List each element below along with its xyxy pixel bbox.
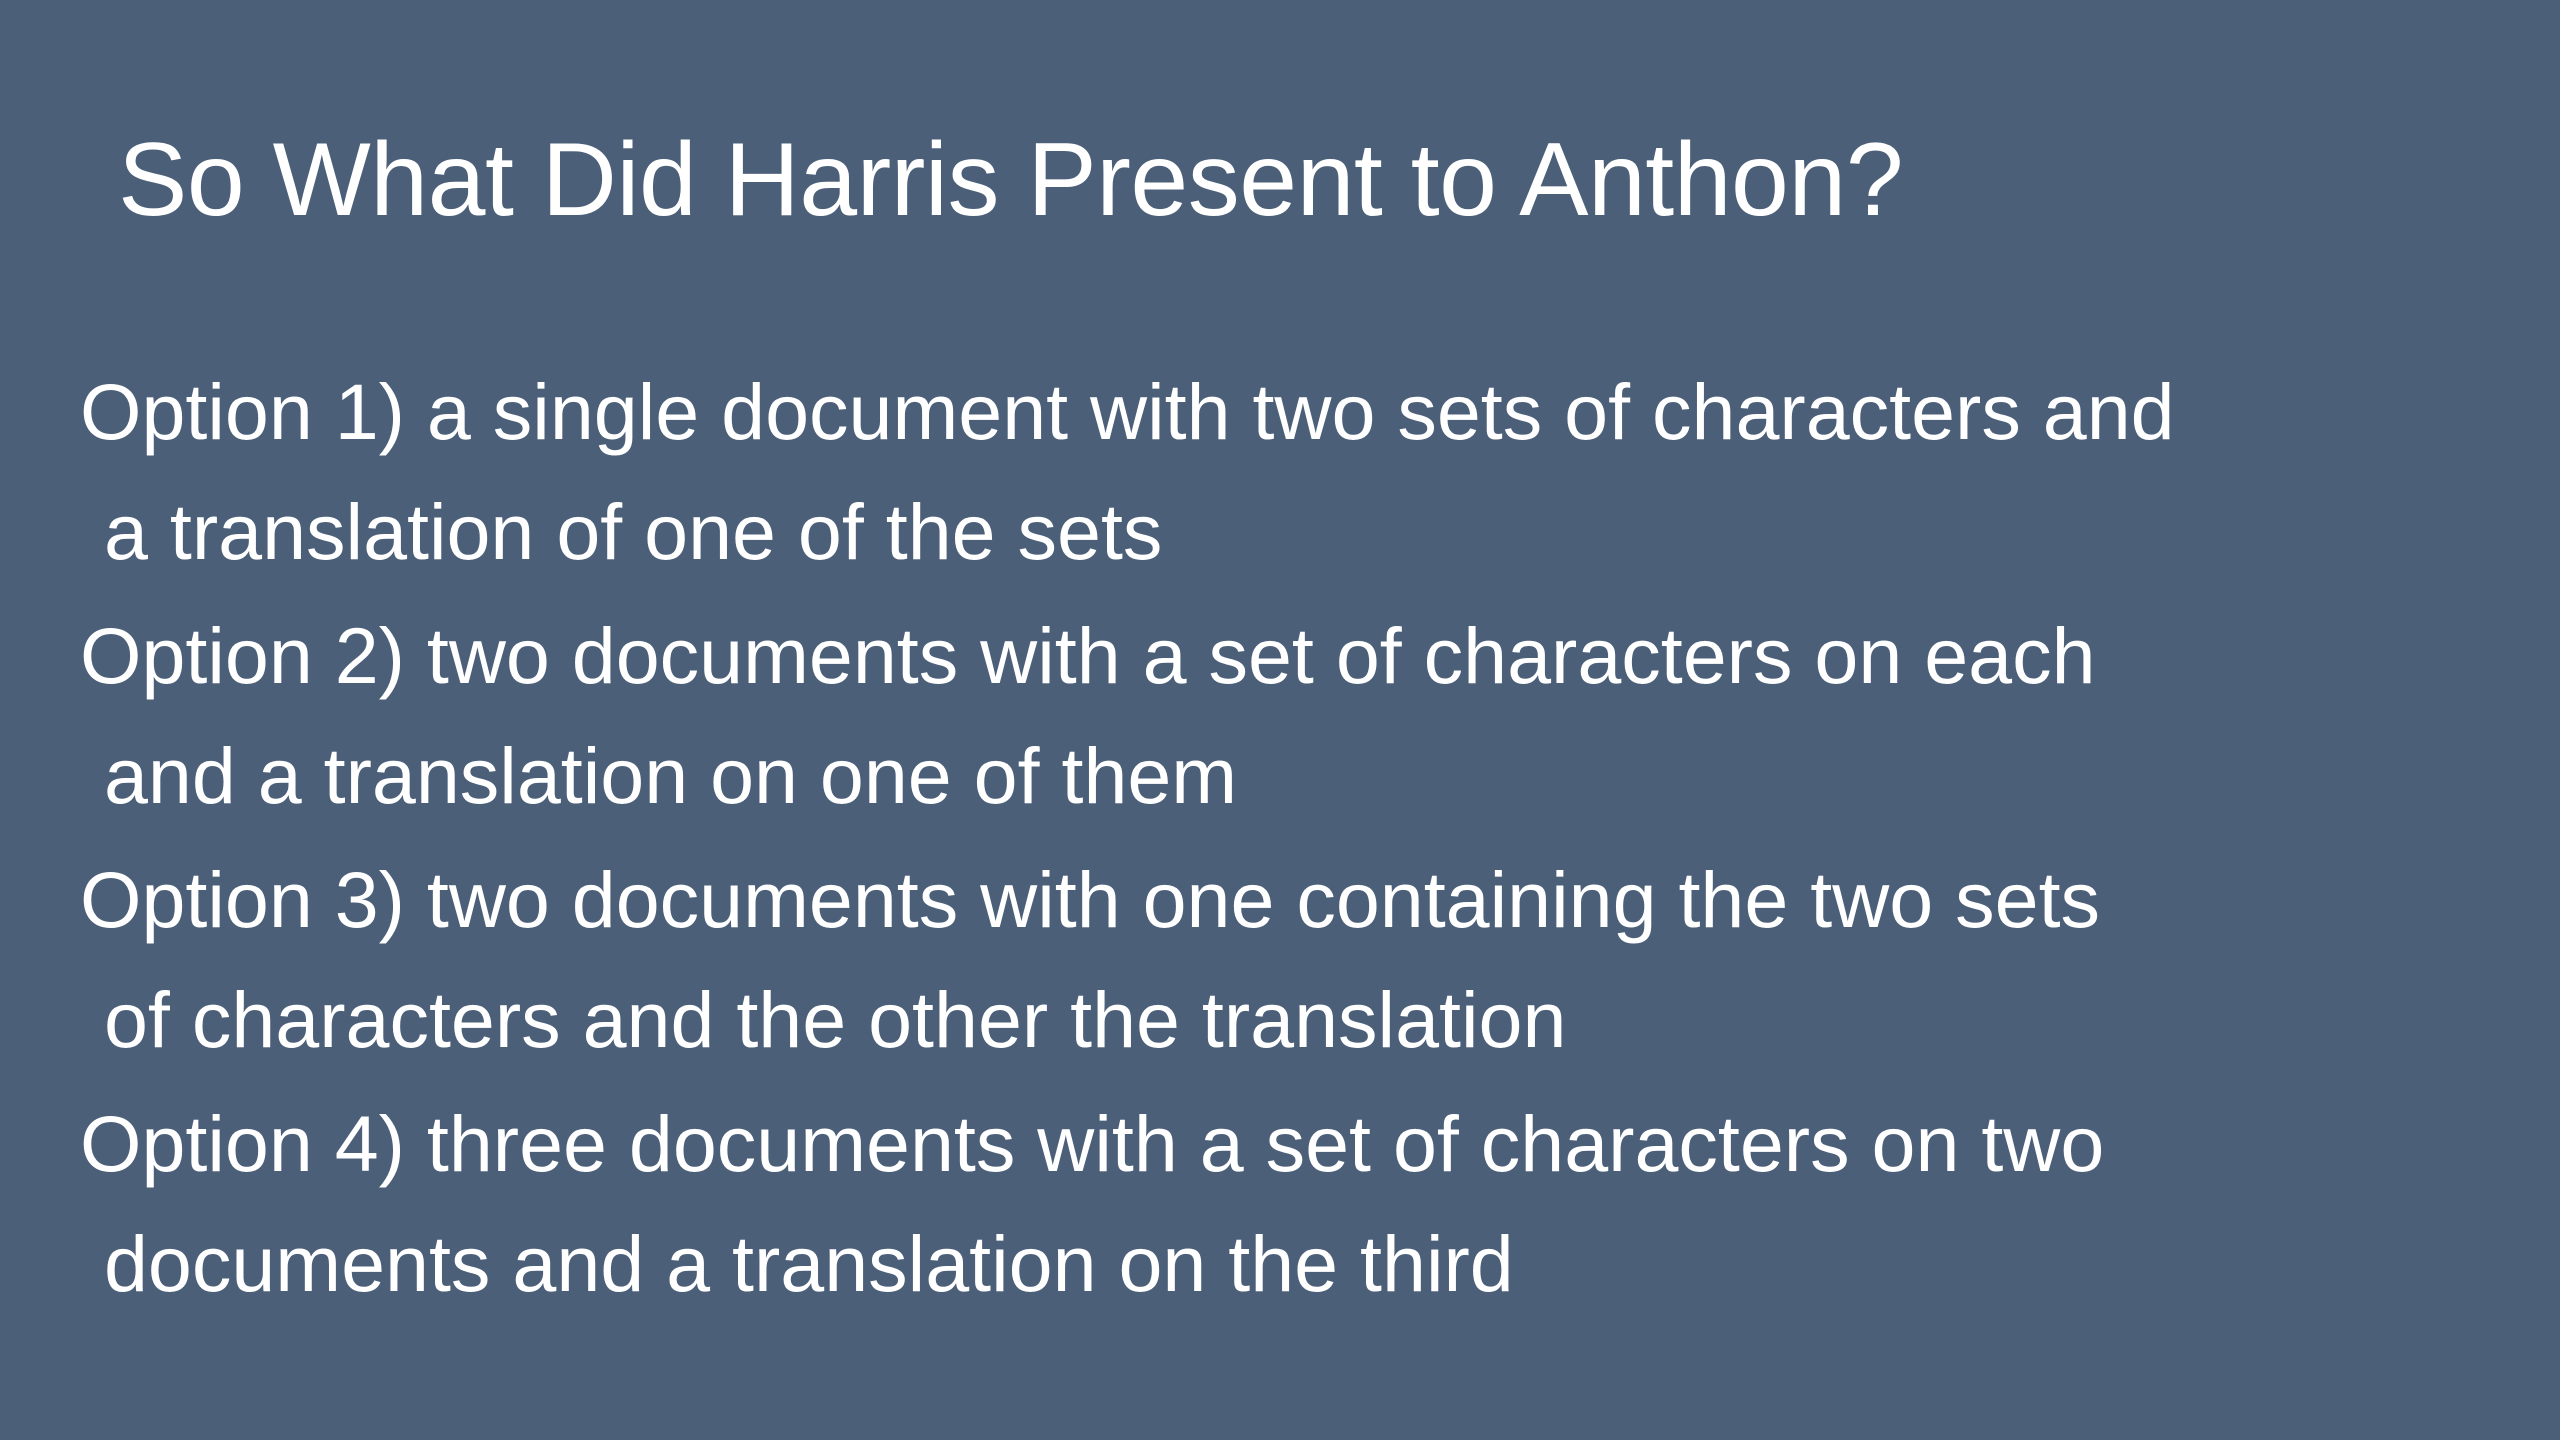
- option-item-3: Option 3) two documents with one contain…: [80, 840, 2500, 1080]
- option-3-line-2: of characters and the other the translat…: [80, 960, 2500, 1080]
- option-1-line-2: a translation of one of the sets: [80, 472, 2500, 592]
- presentation-slide: So What Did Harris Present to Anthon? Op…: [0, 0, 2560, 1440]
- option-4-line-1: Option 4) three documents with a set of …: [80, 1084, 2500, 1204]
- page-title: So What Did Harris Present to Anthon?: [118, 122, 2448, 238]
- option-item-1: Option 1) a single document with two set…: [80, 352, 2500, 592]
- option-2-line-1: Option 2) two documents with a set of ch…: [80, 596, 2500, 716]
- slide-body-text: Option 1) a single document with two set…: [80, 352, 2500, 1328]
- option-4-line-2: documents and a translation on the third: [80, 1204, 2500, 1324]
- option-2-line-2: and a translation on one of them: [80, 716, 2500, 836]
- option-1-line-1: Option 1) a single document with two set…: [80, 352, 2500, 472]
- option-item-4: Option 4) three documents with a set of …: [80, 1084, 2500, 1324]
- option-item-2: Option 2) two documents with a set of ch…: [80, 596, 2500, 836]
- option-3-line-1: Option 3) two documents with one contain…: [80, 840, 2500, 960]
